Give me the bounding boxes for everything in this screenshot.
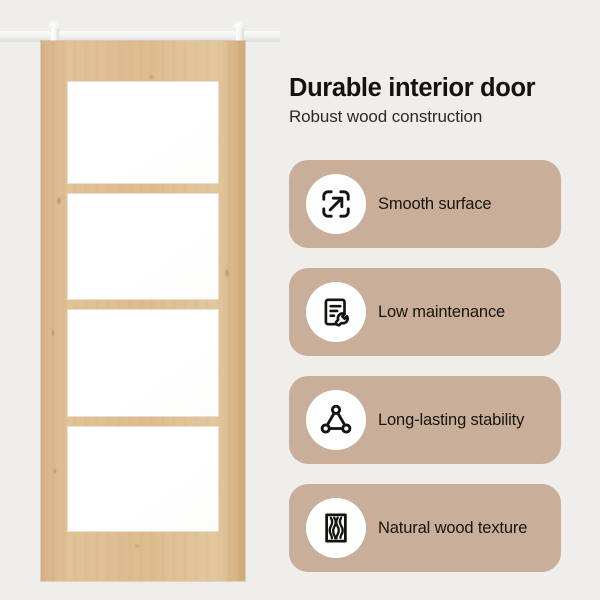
feature-card-natural-wood-texture: Natural wood texture [289, 484, 561, 572]
feature-icon-badge [306, 390, 366, 450]
product-photo-sliding-barn-door [0, 0, 280, 600]
feature-list: Smooth surface Low maintenanc [289, 160, 565, 572]
door-slab [41, 41, 245, 581]
content-panel: Durable interior door Robust wood constr… [283, 0, 600, 600]
feature-icon-badge [306, 282, 366, 342]
feature-label: Natural wood texture [378, 519, 527, 538]
triangle-nodes-icon [319, 403, 353, 437]
arrow-out-of-frame-icon [319, 187, 353, 221]
feature-label: Smooth surface [378, 195, 491, 214]
feature-icon-badge [306, 174, 366, 234]
wood-grain-icon [319, 511, 353, 545]
glass-pane [67, 193, 219, 300]
feature-card-low-maintenance: Low maintenance [289, 268, 561, 356]
page-subtitle: Robust wood construction [289, 107, 594, 127]
glass-pane [67, 81, 219, 184]
feature-card-smooth-surface: Smooth surface [289, 160, 561, 248]
feature-label: Long-lasting stability [378, 411, 524, 430]
heading-block: Durable interior door Robust wood constr… [289, 74, 594, 127]
page-title: Durable interior door [289, 74, 594, 103]
glass-pane [67, 426, 219, 532]
glass-pane [67, 309, 219, 417]
feature-card-long-lasting-stability: Long-lasting stability [289, 376, 561, 464]
feature-icon-badge [306, 498, 366, 558]
product-infographic: Durable interior door Robust wood constr… [0, 0, 600, 600]
document-wrench-icon [319, 295, 353, 329]
feature-label: Low maintenance [378, 303, 505, 322]
